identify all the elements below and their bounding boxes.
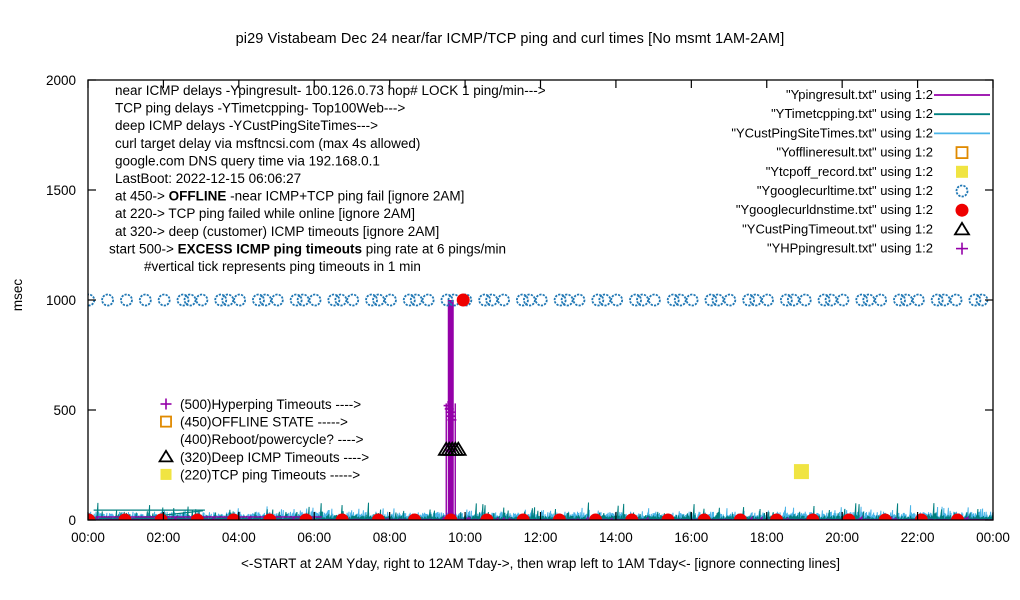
inline-key-label: (220)TCP ping Timeouts ----->	[180, 467, 360, 482]
annotation-line: google.com DNS query time via 192.168.0.…	[115, 153, 380, 168]
annotation-excess: start 500-> EXCESS ICMP ping timeouts pi…	[109, 241, 506, 256]
annotation-tick-meaning: #vertical tick represents ping timeouts …	[144, 259, 421, 274]
legend-label: "Ygooglecurltime.txt" using 1:2	[757, 183, 933, 198]
svg-text:1500: 1500	[46, 183, 76, 198]
legend-marker-open-circle-icon	[957, 186, 968, 197]
legend-label: "Ygooglecurldnstime.txt" using 1:2	[736, 202, 933, 217]
inline-key-filled-square-icon	[160, 469, 171, 480]
svg-text:00:00: 00:00	[71, 530, 105, 545]
inline-key-label: (450)OFFLINE STATE ----->	[180, 415, 348, 430]
inline-key-open-square-icon	[161, 417, 171, 427]
inline-key-open-triangle-icon	[160, 451, 173, 462]
legend-label: "YTimetcpping.txt" using 1:2	[771, 106, 933, 121]
annotation-line: LastBoot: 2022-12-15 06:06:27	[115, 171, 301, 186]
chart-legend: "Ypingresult.txt" using 1:2"YTimetcpping…	[731, 87, 990, 256]
annotation-line: TCP ping delays -YTimetcpping- Top100Web…	[115, 101, 405, 116]
inline-key-label: (320)Deep ICMP Timeouts ---->	[180, 450, 369, 465]
inline-key-label: (400)Reboot/powercycle? ---->	[180, 432, 364, 447]
annotation-line: curl target delay via msftncsi.com (max …	[115, 136, 420, 151]
y-axis-label: msec	[10, 279, 25, 312]
legend-label: "Ypingresult.txt" using 1:2	[786, 87, 933, 102]
annotation-deep-icmp: at 320-> deep (customer) ICMP timeouts […	[115, 224, 439, 239]
svg-text:14:00: 14:00	[599, 530, 633, 545]
legend-marker-open-triangle-icon	[955, 223, 969, 235]
annotation-line: near ICMP delays -Ypingresult- 100.126.0…	[115, 83, 546, 98]
legend-label: "YCustPingSiteTimes.txt" using 1:2	[731, 125, 933, 140]
legend-marker-filled-circle-icon	[956, 204, 969, 217]
inline-threshold-key: (500)Hyperping Timeouts ---->(450)OFFLIN…	[160, 397, 370, 482]
svg-text:0: 0	[68, 513, 76, 528]
svg-text:22:00: 22:00	[901, 530, 935, 545]
svg-text:06:00: 06:00	[297, 530, 331, 545]
svg-text:00:00: 00:00	[976, 530, 1010, 545]
svg-text:10:00: 10:00	[448, 530, 482, 545]
svg-text:04:00: 04:00	[222, 530, 256, 545]
legend-marker-filled-square-icon	[956, 166, 968, 178]
svg-text:02:00: 02:00	[147, 530, 181, 545]
annotation-block: near ICMP delays -Ypingresult- 100.126.0…	[109, 83, 546, 274]
legend-marker-plus-icon	[956, 243, 968, 255]
legend-label: "YHPpingresult.txt" using 1:2	[767, 241, 933, 256]
ping-times-chart: 200015001000500000:0002:0004:0006:0008:0…	[0, 0, 1020, 600]
inline-key-plus-icon	[160, 398, 171, 409]
inline-key-label: (500)Hyperping Timeouts ---->	[180, 397, 361, 412]
legend-label: "Ytcpoff_record.txt" using 1:2	[766, 164, 933, 179]
svg-text:18:00: 18:00	[750, 530, 784, 545]
annotation-line: deep ICMP delays -YCustPingSiteTimes--->	[115, 118, 378, 133]
legend-label: "YCustPingTimeout.txt" using 1:2	[742, 221, 933, 236]
svg-text:20:00: 20:00	[825, 530, 859, 545]
annotation-tcp-fail: at 220-> TCP ping failed while online [i…	[115, 206, 415, 221]
svg-text:12:00: 12:00	[524, 530, 558, 545]
legend-marker-open-square-icon	[957, 147, 968, 158]
svg-text:500: 500	[53, 403, 76, 418]
annotation-offline: at 450-> OFFLINE -near ICMP+TCP ping fai…	[115, 189, 464, 204]
svg-text:1000: 1000	[46, 293, 76, 308]
x-axis-caption: <-START at 2AM Yday, right to 12AM Tday-…	[241, 556, 840, 571]
svg-text:16:00: 16:00	[674, 530, 708, 545]
svg-text:08:00: 08:00	[373, 530, 407, 545]
legend-label: "Yofflineresult.txt" using 1:2	[776, 145, 933, 160]
svg-text:2000: 2000	[46, 73, 76, 88]
